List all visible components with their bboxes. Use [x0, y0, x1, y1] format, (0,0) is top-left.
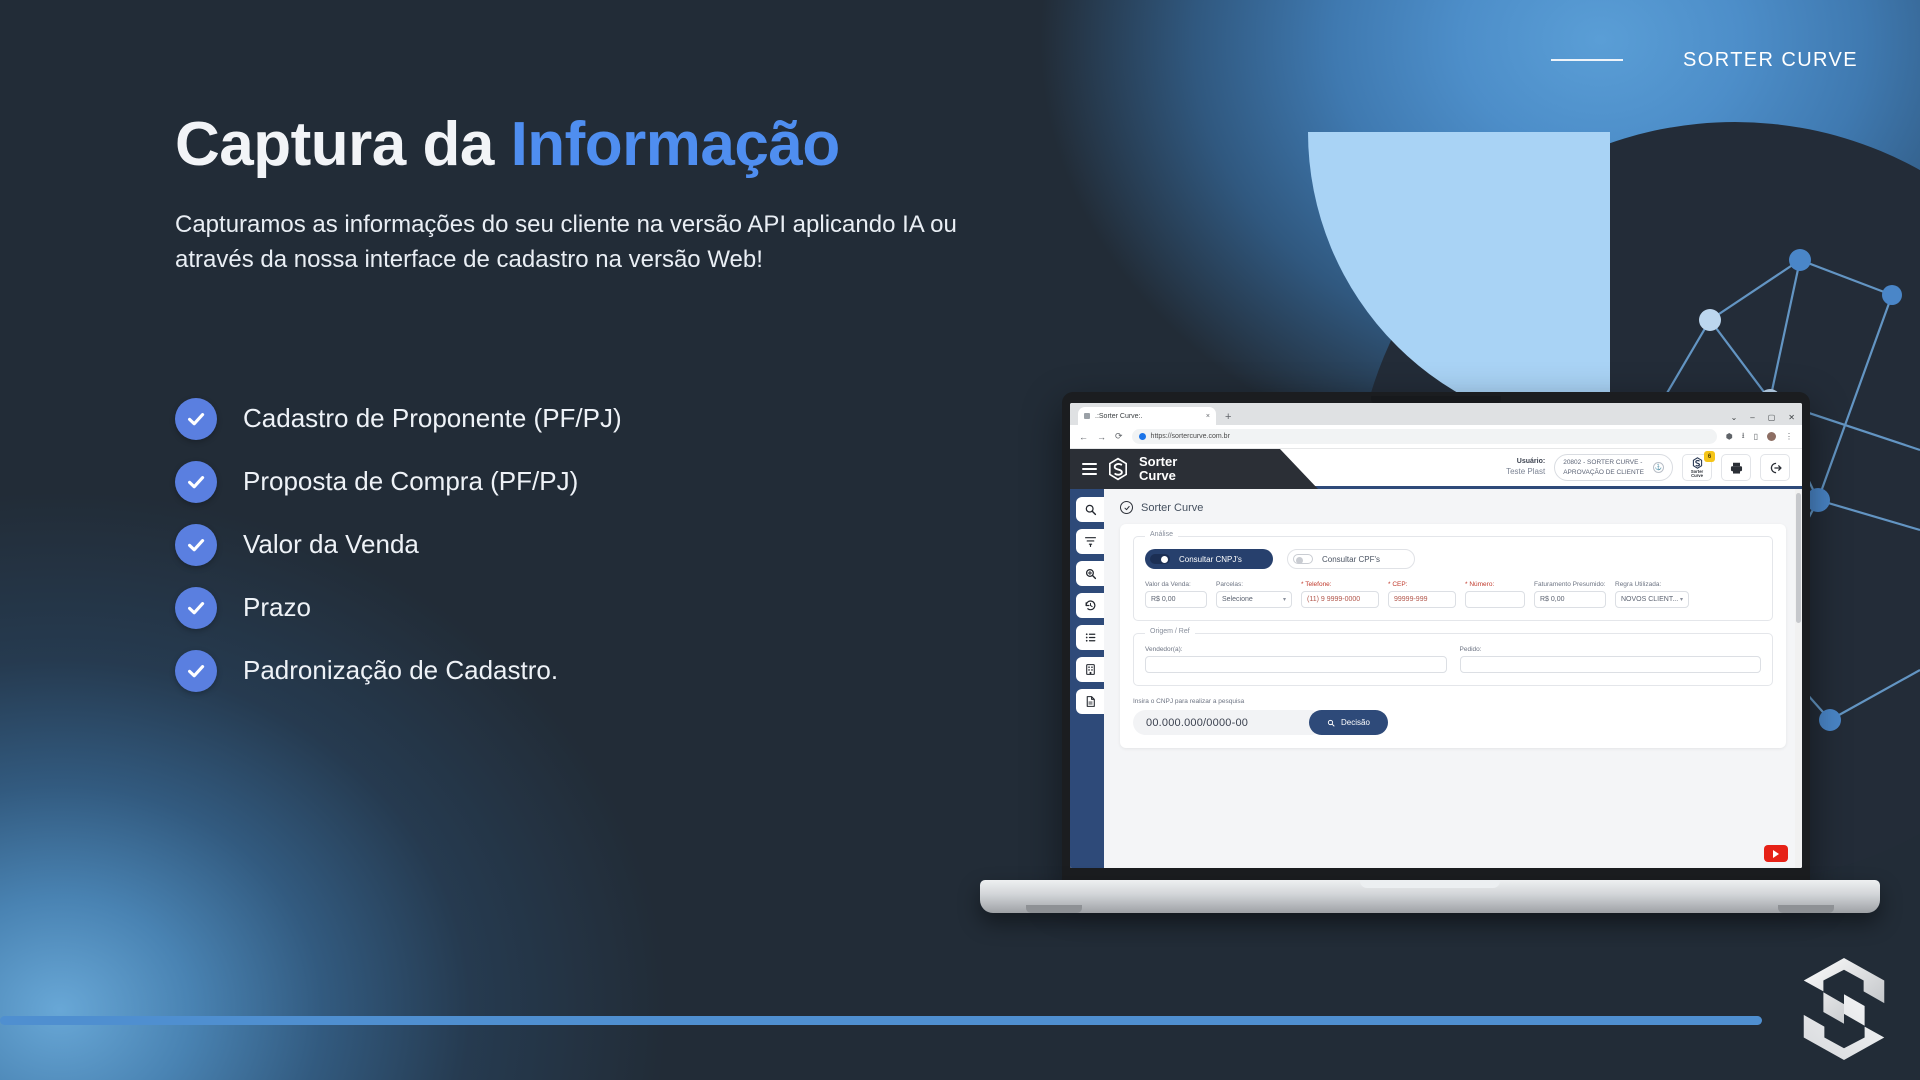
user-name: Teste Plast [1506, 467, 1545, 477]
regra-utilizada-value: NOVOS CLIENT... [1621, 596, 1678, 603]
field-label: Parcelas: [1216, 581, 1292, 588]
filter-icon [1084, 535, 1097, 548]
zoom-search-icon [1084, 567, 1097, 580]
printer-icon [1729, 461, 1744, 475]
scrollbar-thumb[interactable] [1796, 493, 1801, 623]
field-faturamento-presumido: Faturamento Presumido: R$ 0,00 [1534, 581, 1606, 608]
sorter-curve-logo-icon [1107, 457, 1129, 481]
field-label: Vendedor(a): [1145, 646, 1447, 653]
browser-tab[interactable]: .:Sorter Curve:. × [1078, 407, 1216, 425]
list-item: Cadastro de Proponente (PF/PJ) [175, 398, 1075, 440]
search-icon [1327, 719, 1335, 727]
toggle-switch-on-icon [1150, 554, 1170, 564]
title-main: Captura da [175, 110, 511, 179]
parcelas-select[interactable]: Selecione▾ [1216, 591, 1292, 608]
pedido-input[interactable] [1460, 656, 1762, 673]
hamburger-menu-icon[interactable] [1082, 463, 1097, 475]
laptop-foot-right [1778, 905, 1834, 913]
list-item-label: Prazo [243, 592, 311, 623]
user-label: Usuário: [1506, 458, 1545, 467]
lock-icon [1139, 433, 1146, 440]
user-info: Usuário: Teste Plast [1506, 458, 1545, 477]
minimize-icon[interactable]: – [1750, 413, 1754, 422]
check-circle-icon [175, 398, 217, 440]
sidebar-item-history[interactable] [1076, 593, 1104, 618]
numero-input[interactable] [1465, 591, 1525, 608]
field-numero: * Número: [1465, 581, 1525, 608]
field-label: Regra Utilizada: [1615, 581, 1689, 588]
app-main-content: Sorter Curve Análise Consultar CNPJ's [1104, 489, 1802, 868]
app-logo-line1: Sorter [1139, 455, 1177, 469]
toggle-cpf-label: Consultar CPF's [1322, 555, 1380, 564]
app-sidebar [1070, 489, 1104, 868]
analise-fieldset: Análise Consultar CNPJ's Consultar CPF's [1133, 536, 1773, 621]
check-circle-icon [175, 650, 217, 692]
decisao-button[interactable]: Decisão [1309, 710, 1388, 735]
mini-logo-line2: Curve [1691, 474, 1703, 478]
chevron-down-icon: ▾ [1680, 596, 1683, 603]
app-body: Sorter Curve Análise Consultar CNPJ's [1070, 489, 1802, 868]
sidebar-item-company[interactable] [1076, 657, 1104, 682]
app-brand-block: Sorter Curve [1070, 449, 1318, 489]
sidebar-item-document[interactable] [1076, 689, 1104, 714]
list-item: Valor da Venda [175, 524, 1075, 566]
chevron-down-icon[interactable]: ⌄ [1731, 413, 1738, 422]
sorter-curve-mini-logo-icon [1692, 457, 1703, 469]
faturamento-presumido-input[interactable]: R$ 0,00 [1534, 591, 1606, 608]
chevron-down-icon: ▾ [1283, 596, 1286, 603]
field-pedido: Pedido: [1460, 646, 1762, 673]
close-icon[interactable]: ✕ [1788, 413, 1795, 422]
app-header-actions: Usuário: Teste Plast 20802 - SORTER CURV… [1506, 454, 1802, 481]
field-label: Faturamento Presumido: [1534, 581, 1606, 588]
toggle-consultar-cpf[interactable]: Consultar CPF's [1287, 549, 1415, 569]
building-icon [1084, 663, 1097, 676]
browser-menu-icon[interactable]: ⋮ [1785, 432, 1793, 441]
notifications-button-label: Sorter Curve [1691, 470, 1703, 479]
field-label: * CEP: [1388, 581, 1456, 588]
field-cep: * CEP: 99999-999 [1388, 581, 1456, 608]
print-button[interactable] [1721, 454, 1751, 481]
cep-input[interactable]: 99999-999 [1388, 591, 1456, 608]
origem-fields: Vendedor(a): Pedido: [1145, 646, 1761, 673]
sorter-curve-brand-logo [1790, 950, 1898, 1068]
context-text: 20802 - SORTER CURVE - APROVAÇÃO DE CLIE… [1563, 458, 1644, 477]
toggle-cnpj-label: Consultar CNPJ's [1179, 555, 1242, 564]
list-item: Padronização de Cadastro. [175, 650, 1075, 692]
check-circle-icon [175, 587, 217, 629]
toggle-switch-off-icon [1293, 554, 1313, 564]
tab-favicon-icon [1084, 413, 1090, 419]
feature-list: Cadastro de Proponente (PF/PJ) Proposta … [175, 398, 1075, 692]
field-regra-utilizada: Regra Utilizada: NOVOS CLIENT...▾ [1615, 581, 1689, 608]
list-item-label: Valor da Venda [243, 529, 419, 560]
field-label: Valor da Venda: [1145, 581, 1207, 588]
forward-icon[interactable]: → [1097, 432, 1106, 442]
logout-icon [1768, 461, 1783, 475]
back-icon[interactable]: ← [1079, 432, 1088, 442]
context-line2: APROVAÇÃO DE CLIENTE [1563, 468, 1644, 477]
list-item-label: Padronização de Cadastro. [243, 655, 558, 686]
field-label: * Número: [1465, 581, 1525, 588]
header-brand-label: SORTER CURVE [1683, 49, 1858, 72]
app-logo-line2: Curve [1139, 469, 1177, 483]
address-input[interactable]: https://sortercurve.com.br [1132, 429, 1717, 444]
sidebar-item-filter[interactable] [1076, 529, 1104, 554]
hero-subtitle: Capturamos as informações do seu cliente… [175, 207, 975, 278]
tab-close-icon[interactable]: × [1206, 413, 1210, 420]
laptop-base [980, 880, 1880, 913]
maximize-icon[interactable]: ▢ [1768, 413, 1776, 422]
vendedor-input[interactable] [1145, 656, 1447, 673]
logout-button[interactable] [1760, 454, 1790, 481]
list-item-label: Cadastro de Proponente (PF/PJ) [243, 403, 622, 434]
page-title: Captura da Informação [175, 112, 1075, 179]
regra-utilizada-select[interactable]: NOVOS CLIENT...▾ [1615, 591, 1689, 608]
analise-fields: Valor da Venda: R$ 0,00 Parcelas: Seleci… [1145, 581, 1761, 608]
avatar[interactable] [1767, 432, 1776, 441]
download-icon[interactable]: ⭳ [1742, 430, 1745, 444]
field-label: * Telefone: [1301, 581, 1379, 588]
sidebar-item-search[interactable] [1076, 497, 1104, 522]
field-valor-da-venda: Valor da Venda: R$ 0,00 [1145, 581, 1207, 608]
reload-icon[interactable]: ⟳ [1115, 431, 1123, 442]
context-badge-icon: ⚓ [1653, 462, 1664, 473]
hero-content: Captura da Informação Capturamos as info… [175, 112, 1075, 692]
analysis-card: Análise Consultar CNPJ's Consultar CPF's [1120, 524, 1786, 748]
laptop-screen: .:Sorter Curve:. × + ⌄ – ▢ ✕ ← → ⟳ http [1070, 403, 1802, 868]
document-icon [1084, 695, 1097, 708]
check-circle-outline-icon [1120, 501, 1133, 514]
history-icon [1084, 599, 1097, 612]
list-item: Proposta de Compra (PF/PJ) [175, 461, 1075, 503]
context-line1: 20802 - SORTER CURVE - [1563, 458, 1644, 467]
address-value: https://sortercurve.com.br [1151, 433, 1230, 440]
list-icon [1084, 631, 1097, 644]
decisao-button-label: Decisão [1341, 718, 1370, 727]
telefone-input[interactable]: (11) 9 9999-0000 [1301, 591, 1379, 608]
browser-tabbar: .:Sorter Curve:. × + ⌄ – ▢ ✕ [1070, 403, 1802, 425]
context-selector[interactable]: 20802 - SORTER CURVE - APROVAÇÃO DE CLIE… [1554, 454, 1673, 481]
page-heading: Sorter Curve [1120, 501, 1786, 514]
consult-type-toggles: Consultar CNPJ's Consultar CPF's [1145, 549, 1761, 569]
notifications-button[interactable]: 6 Sorter Curve [1682, 454, 1712, 481]
list-item: Prazo [175, 587, 1075, 629]
parcelas-value: Selecione [1222, 596, 1253, 603]
app-logo-text: Sorter Curve [1139, 455, 1177, 482]
extension-pin-icon[interactable]: ⬢ [1726, 432, 1733, 441]
laptop-foot-left [1026, 905, 1082, 913]
sidebar-item-list[interactable] [1076, 625, 1104, 650]
window-controls: ⌄ – ▢ ✕ [1731, 413, 1795, 422]
origem-legend: Origem / Ref [1145, 628, 1195, 635]
page-header: SORTER CURVE [1220, 0, 1920, 120]
cnpj-search-group: 00.000.000/0000-00 Decisão [1133, 710, 1773, 735]
sorter-curve-app: Sorter Curve Usuário: Teste Plast 20802 … [1070, 449, 1802, 868]
laptop-base-notch [1360, 880, 1500, 888]
header-rule [1551, 59, 1623, 61]
analise-legend: Análise [1145, 531, 1178, 538]
valor-da-venda-input[interactable]: R$ 0,00 [1145, 591, 1207, 608]
youtube-help-button[interactable] [1764, 845, 1788, 862]
check-circle-icon [175, 524, 217, 566]
sidebar-icon[interactable]: ▯ [1754, 432, 1758, 441]
origem-fieldset: Origem / Ref Vendedor(a): Pedido: [1133, 633, 1773, 686]
bottom-accent-bar [0, 1016, 1762, 1025]
title-accent: Informação [511, 110, 840, 179]
laptop-lid: .:Sorter Curve:. × + ⌄ – ▢ ✕ ← → ⟳ http [1062, 392, 1810, 885]
laptop-mockup: .:Sorter Curve:. × + ⌄ – ▢ ✕ ← → ⟳ http [980, 392, 1780, 962]
field-label: Pedido: [1460, 646, 1762, 653]
tab-title: .:Sorter Curve:. [1095, 413, 1201, 420]
check-circle-icon [175, 461, 217, 503]
list-item-label: Proposta de Compra (PF/PJ) [243, 466, 578, 497]
notification-badge: 6 [1704, 451, 1715, 462]
field-vendedor: Vendedor(a): [1145, 646, 1447, 673]
toggle-consultar-cnpj[interactable]: Consultar CNPJ's [1145, 549, 1273, 569]
new-tab-icon[interactable]: + [1225, 412, 1231, 425]
cnpj-search-label: Insira o CNPJ para realizar a pesquisa [1133, 698, 1773, 705]
app-header: Sorter Curve Usuário: Teste Plast 20802 … [1070, 449, 1802, 489]
cnpj-search-row: Insira o CNPJ para realizar a pesquisa 0… [1133, 698, 1773, 735]
cnpj-search-input[interactable]: 00.000.000/0000-00 [1133, 710, 1323, 735]
page-heading-label: Sorter Curve [1141, 502, 1203, 514]
browser-urlbar: ← → ⟳ https://sortercurve.com.br ⬢ ⭳ ▯ ⋮ [1070, 425, 1802, 449]
search-icon [1084, 503, 1097, 516]
field-telefone: * Telefone: (11) 9 9999-0000 [1301, 581, 1379, 608]
play-icon [1773, 850, 1779, 858]
sidebar-item-zoom-search[interactable] [1076, 561, 1104, 586]
field-parcelas: Parcelas: Selecione▾ [1216, 581, 1292, 608]
scrollbar-track[interactable] [1795, 489, 1802, 868]
